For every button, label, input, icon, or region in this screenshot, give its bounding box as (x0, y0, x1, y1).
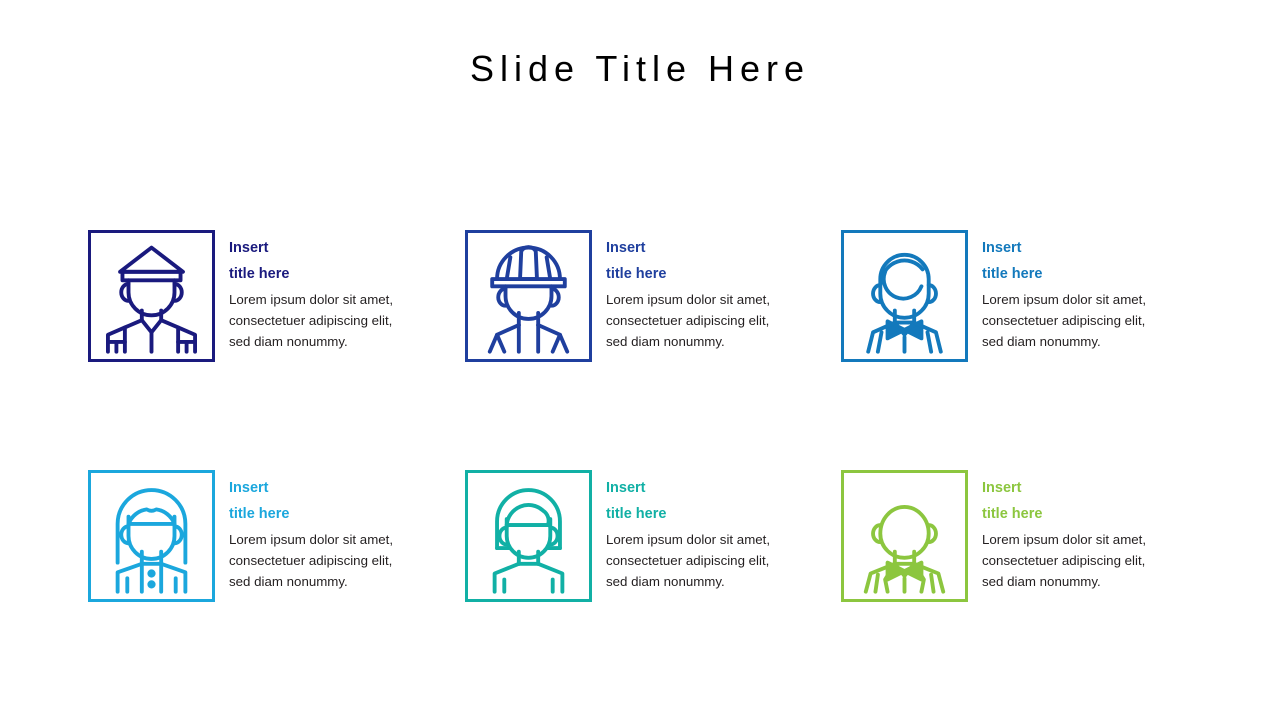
icon-frame-3[interactable] (841, 230, 968, 362)
card-heading-1: Insert title here (229, 235, 465, 287)
card-body-1: Lorem ipsum dolor sit amet, consectetuer… (229, 289, 465, 352)
card-heading-line2: title here (606, 261, 841, 287)
page-title: Slide Title Here (0, 46, 1280, 92)
card-heading-4: Insert title here (229, 475, 465, 527)
card-heading-3: Insert title here (982, 235, 1198, 287)
card-heading-line2: title here (606, 501, 841, 527)
card-heading-line2: title here (229, 261, 465, 287)
card-heading-line2: title here (229, 501, 465, 527)
card-heading-line1: Insert (229, 475, 465, 501)
card-heading-2: Insert title here (606, 235, 841, 287)
card-heading-line1: Insert (606, 475, 841, 501)
icon-frame-1[interactable] (88, 230, 215, 362)
card-text-2: Insert title here Lorem ipsum dolor sit … (606, 230, 841, 352)
bob-hair-woman-icon (468, 473, 589, 599)
card-text-3: Insert title here Lorem ipsum dolor sit … (982, 230, 1198, 352)
icon-frame-5[interactable] (465, 470, 592, 602)
bald-man-suit-icon (844, 473, 965, 599)
card-text-1: Insert title here Lorem ipsum dolor sit … (229, 230, 465, 352)
construction-worker-icon (468, 233, 589, 359)
card-heading-line1: Insert (229, 235, 465, 261)
icon-frame-6[interactable] (841, 470, 968, 602)
card-3[interactable]: Insert title here Lorem ipsum dolor sit … (841, 230, 1198, 362)
card-body-5: Lorem ipsum dolor sit amet, consectetuer… (606, 529, 841, 592)
man-with-bowtie-icon (844, 233, 965, 359)
card-2[interactable]: Insert title here Lorem ipsum dolor sit … (465, 230, 841, 362)
card-5[interactable]: Insert title here Lorem ipsum dolor sit … (465, 470, 841, 602)
card-text-4: Insert title here Lorem ipsum dolor sit … (229, 470, 465, 592)
card-heading-6: Insert title here (982, 475, 1198, 527)
card-body-6: Lorem ipsum dolor sit amet, consectetuer… (982, 529, 1198, 592)
card-1[interactable]: Insert title here Lorem ipsum dolor sit … (88, 230, 465, 362)
long-hair-woman-icon (91, 473, 212, 599)
card-body-4: Lorem ipsum dolor sit amet, consectetuer… (229, 529, 465, 592)
card-6[interactable]: Insert title here Lorem ipsum dolor sit … (841, 470, 1198, 602)
card-body-2: Lorem ipsum dolor sit amet, consectetuer… (606, 289, 841, 352)
card-body-3: Lorem ipsum dolor sit amet, consectetuer… (982, 289, 1198, 352)
slide-canvas: Slide Title Here (0, 0, 1280, 720)
card-heading-line1: Insert (982, 235, 1198, 261)
icon-frame-4[interactable] (88, 470, 215, 602)
card-heading-line1: Insert (606, 235, 841, 261)
card-heading-line1: Insert (982, 475, 1198, 501)
card-heading-5: Insert title here (606, 475, 841, 527)
card-4[interactable]: Insert title here Lorem ipsum dolor sit … (88, 470, 465, 602)
card-text-5: Insert title here Lorem ipsum dolor sit … (606, 470, 841, 592)
icon-frame-2[interactable] (465, 230, 592, 362)
cards-grid: Insert title here Lorem ipsum dolor sit … (88, 230, 1198, 602)
card-heading-line2: title here (982, 501, 1198, 527)
card-heading-line2: title here (982, 261, 1198, 287)
police-officer-icon (91, 233, 212, 359)
card-text-6: Insert title here Lorem ipsum dolor sit … (982, 470, 1198, 592)
